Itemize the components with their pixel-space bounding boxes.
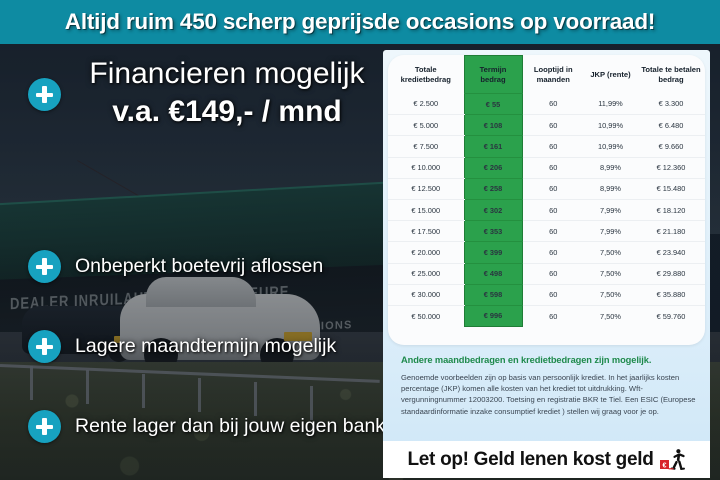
table-cell: € 5.000 xyxy=(388,115,464,136)
table-cell: 60 xyxy=(522,115,584,136)
bullet-item-1: Lagere maandtermijn mogelijk xyxy=(28,330,336,363)
bullet-label-2: Rente lager dan bij jouw eigen bank xyxy=(75,415,385,438)
legal-warning-text: Let op! Geld lenen kost geld xyxy=(407,449,653,471)
rates-card: Totale kredietbedrag Termijn bedrag Loop… xyxy=(388,55,705,345)
table-cell: 8,99% xyxy=(584,157,637,178)
table-cell: 10,99% xyxy=(584,115,637,136)
table-row: € 30.000€ 598607,50%€ 35.880 xyxy=(388,284,705,305)
table-cell: 60 xyxy=(522,284,584,305)
table-cell: € 25.000 xyxy=(388,263,464,284)
table-cell: € 55 xyxy=(464,94,522,115)
bullet-item-0: Onbeperkt boetevrij aflossen xyxy=(28,250,323,283)
col-header-0: Totale kredietbedrag xyxy=(388,56,464,94)
table-cell: € 996 xyxy=(464,305,522,326)
table-cell: € 9.660 xyxy=(637,136,705,157)
table-cell: € 353 xyxy=(464,221,522,242)
table-cell: 60 xyxy=(522,178,584,199)
top-headline-bar: Altijd ruim 450 scherp geprijsde occasio… xyxy=(0,0,720,44)
table-cell: € 10.000 xyxy=(388,157,464,178)
table-cell: € 21.180 xyxy=(637,221,705,242)
table-cell: € 30.000 xyxy=(388,284,464,305)
plus-icon xyxy=(28,410,61,443)
table-cell: € 35.880 xyxy=(637,284,705,305)
table-cell: 60 xyxy=(522,242,584,263)
table-cell: 60 xyxy=(522,263,584,284)
table-cell: € 258 xyxy=(464,178,522,199)
table-cell: 8,99% xyxy=(584,178,637,199)
table-cell: € 23.940 xyxy=(637,242,705,263)
promo-headline-line2: v.a. €149,- / mnd xyxy=(62,92,392,132)
table-cell: 7,50% xyxy=(584,263,637,284)
table-row: € 10.000€ 206608,99%€ 12.360 xyxy=(388,157,705,178)
table-row: € 15.000€ 302607,99%€ 18.120 xyxy=(388,199,705,220)
plus-icon xyxy=(28,250,61,283)
col-header-2: Looptijd in maanden xyxy=(522,56,584,94)
rates-panel: Totale kredietbedrag Termijn bedrag Loop… xyxy=(383,50,710,478)
table-cell: 10,99% xyxy=(584,136,637,157)
table-cell: € 15.000 xyxy=(388,199,464,220)
table-cell: 60 xyxy=(522,157,584,178)
table-cell: € 2.500 xyxy=(388,94,464,115)
top-headline-text: Altijd ruim 450 scherp geprijsde occasio… xyxy=(65,9,655,35)
table-cell: € 302 xyxy=(464,199,522,220)
notice-body: Genoemde voorbeelden zijn op basis van p… xyxy=(401,372,696,417)
col-header-1: Termijn bedrag xyxy=(464,56,522,94)
bullet-label-1: Lagere maandtermijn mogelijk xyxy=(75,335,336,358)
table-cell: € 12.500 xyxy=(388,178,464,199)
table-cell: 11,99% xyxy=(584,94,637,115)
table-header-row: Totale kredietbedrag Termijn bedrag Loop… xyxy=(388,56,705,94)
promo-headline: Financieren mogelijk v.a. €149,- / mnd xyxy=(62,56,392,132)
credit-promo-banner: Altijd ruim 450 scherp geprijsde occasio… xyxy=(0,0,720,480)
legal-warning-bar: Let op! Geld lenen kost geld € xyxy=(383,441,710,478)
table-cell: € 59.760 xyxy=(637,305,705,326)
promo-headline-line1: Financieren mogelijk xyxy=(62,56,392,92)
table-row: € 25.000€ 498607,50%€ 29.880 xyxy=(388,263,705,284)
table-row: € 7.500€ 1616010,99%€ 9.660 xyxy=(388,136,705,157)
table-cell: € 12.360 xyxy=(637,157,705,178)
table-cell: 7,50% xyxy=(584,305,637,326)
promo-content: Financieren mogelijk v.a. €149,- / mnd O… xyxy=(0,44,400,480)
table-cell: € 399 xyxy=(464,242,522,263)
table-cell: € 50.000 xyxy=(388,305,464,326)
table-cell: € 20.000 xyxy=(388,242,464,263)
table-row: € 50.000€ 996607,50%€ 59.760 xyxy=(388,305,705,326)
table-cell: € 6.480 xyxy=(637,115,705,136)
table-cell: € 15.480 xyxy=(637,178,705,199)
col-header-3: JKP (rente) xyxy=(584,56,637,94)
table-cell: 60 xyxy=(522,94,584,115)
table-cell: € 29.880 xyxy=(637,263,705,284)
table-cell: € 3.300 xyxy=(637,94,705,115)
table-cell: 7,99% xyxy=(584,199,637,220)
bullet-item-2: Rente lager dan bij jouw eigen bank xyxy=(28,410,385,443)
table-cell: 7,50% xyxy=(584,284,637,305)
notice-title: Andere maandbedragen en kredietbedragen … xyxy=(401,355,696,365)
table-cell: € 206 xyxy=(464,157,522,178)
table-cell: 60 xyxy=(522,221,584,242)
table-cell: 7,99% xyxy=(584,221,637,242)
notice-block: Andere maandbedragen en kredietbedragen … xyxy=(401,355,696,417)
table-cell: € 7.500 xyxy=(388,136,464,157)
rates-table: Totale kredietbedrag Termijn bedrag Loop… xyxy=(388,55,705,327)
col-header-4: Totale te betalen bedrag xyxy=(637,56,705,94)
bullet-item-headline-marker xyxy=(28,78,61,111)
table-row: € 20.000€ 399607,50%€ 23.940 xyxy=(388,242,705,263)
table-cell: 60 xyxy=(522,199,584,220)
table-cell: € 108 xyxy=(464,115,522,136)
bullet-label-0: Onbeperkt boetevrij aflossen xyxy=(75,255,323,278)
table-row: € 2.500€ 556011,99%€ 3.300 xyxy=(388,94,705,115)
table-cell: € 598 xyxy=(464,284,522,305)
plus-icon xyxy=(28,330,61,363)
table-row: € 12.500€ 258608,99%€ 15.480 xyxy=(388,178,705,199)
table-cell: € 161 xyxy=(464,136,522,157)
afm-running-man-icon: € xyxy=(660,448,686,472)
table-row: € 5.000€ 1086010,99%€ 6.480 xyxy=(388,115,705,136)
svg-text:€: € xyxy=(662,462,666,469)
table-cell: 7,50% xyxy=(584,242,637,263)
table-cell: € 18.120 xyxy=(637,199,705,220)
table-cell: € 498 xyxy=(464,263,522,284)
table-row: € 17.500€ 353607,99%€ 21.180 xyxy=(388,221,705,242)
table-cell: 60 xyxy=(522,136,584,157)
plus-icon xyxy=(28,78,61,111)
table-cell: € 17.500 xyxy=(388,221,464,242)
table-cell: 60 xyxy=(522,305,584,326)
rates-table-body: € 2.500€ 556011,99%€ 3.300€ 5.000€ 10860… xyxy=(388,94,705,327)
